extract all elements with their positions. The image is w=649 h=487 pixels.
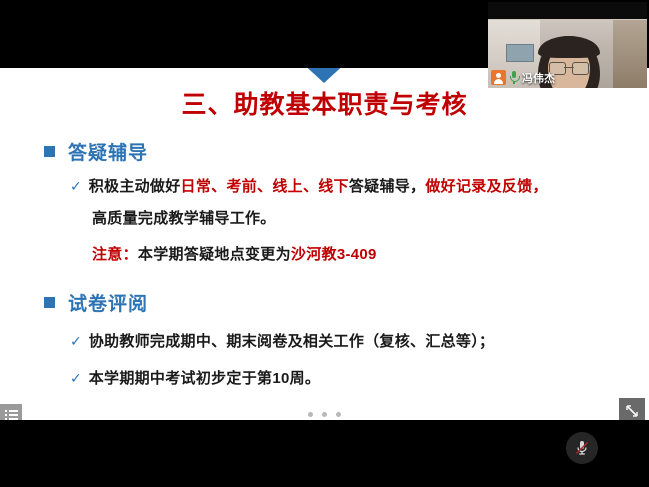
participant-name: 冯伟杰 xyxy=(522,70,555,86)
video-wall-right xyxy=(613,20,647,88)
run-black-1: 积极主动做好 xyxy=(89,178,181,195)
bullet-line-5-text: 本学期期中考试初步定于第10周。 xyxy=(89,367,321,388)
slide-title: 三、助教基本职责与考核 xyxy=(0,85,649,121)
participant-name-badge: 冯伟杰 xyxy=(491,70,555,85)
square-bullet-icon xyxy=(44,146,55,157)
bullet-line-2-text: 高质量完成教学辅导工作。 xyxy=(92,207,276,228)
bullet-line-1-text: 积极主动做好日常、考前、线上、线下答疑辅导，做好记录及反馈， xyxy=(89,175,548,196)
check-icon: ✓ xyxy=(70,179,82,193)
pen-icon xyxy=(624,403,640,419)
bullet-line-1: ✓ 积极主动做好日常、考前、线上、线下答疑辅导，做好记录及反馈， xyxy=(70,175,548,196)
meeting-screen-share-view: 三、助教基本职责与考核 答疑辅导 ✓ 积极主动做好日常、考前、线上、线下答疑辅导… xyxy=(0,0,649,487)
triangle-down-icon xyxy=(300,68,348,83)
page-indicator-dots[interactable] xyxy=(0,412,649,417)
participant-video-thumbnail[interactable]: 冯伟杰 xyxy=(488,2,647,88)
section-heading-1-label: 答疑辅导 xyxy=(68,138,148,165)
bullet-line-5: ✓ 本学期期中考试初步定于第10周。 xyxy=(70,367,320,388)
bullet-line-3-text: 注意：本学期答疑地点变更为沙河教3-409 xyxy=(92,243,377,264)
microphone-on-icon xyxy=(510,71,518,84)
video-letterbox-top xyxy=(488,2,647,19)
run-red-1: 日常、考前、线上、线下 xyxy=(181,178,349,195)
section-heading-1: 答疑辅导 xyxy=(44,138,148,165)
run-red-2: 做好记录及反馈， xyxy=(425,178,547,195)
run-black-2: 答疑辅导， xyxy=(349,178,426,195)
bullet-line-2: 高质量完成教学辅导工作。 xyxy=(92,207,276,228)
note-prefix: 注意： xyxy=(92,246,138,263)
page-dot[interactable] xyxy=(336,412,341,417)
annotate-button[interactable] xyxy=(619,398,645,420)
section-heading-2-label: 试卷评阅 xyxy=(68,289,148,316)
bullet-line-4-text: 协助教师完成期中、期末阅卷及相关工作（复核、汇总等）； xyxy=(89,330,495,351)
note-location: 沙河教3-409 xyxy=(291,246,377,263)
mute-toggle-button[interactable] xyxy=(566,432,598,464)
bullet-line-4: ✓ 协助教师完成期中、期末阅卷及相关工作（复核、汇总等）； xyxy=(70,330,494,351)
person-icon xyxy=(491,70,506,85)
section-heading-2: 试卷评阅 xyxy=(44,289,148,316)
presentation-slide: 三、助教基本职责与考核 答疑辅导 ✓ 积极主动做好日常、考前、线上、线下答疑辅导… xyxy=(0,68,649,420)
note-body: 本学期答疑地点变更为 xyxy=(138,246,291,263)
check-icon: ✓ xyxy=(70,371,82,385)
check-icon: ✓ xyxy=(70,334,82,348)
bullet-line-3-note: 注意：本学期答疑地点变更为沙河教3-409 xyxy=(92,243,377,264)
video-wall-picture xyxy=(506,44,534,62)
page-dot[interactable] xyxy=(322,412,327,417)
microphone-muted-icon xyxy=(572,438,592,458)
square-bullet-icon xyxy=(44,297,55,308)
page-dot[interactable] xyxy=(308,412,313,417)
participant-glasses xyxy=(549,62,589,73)
